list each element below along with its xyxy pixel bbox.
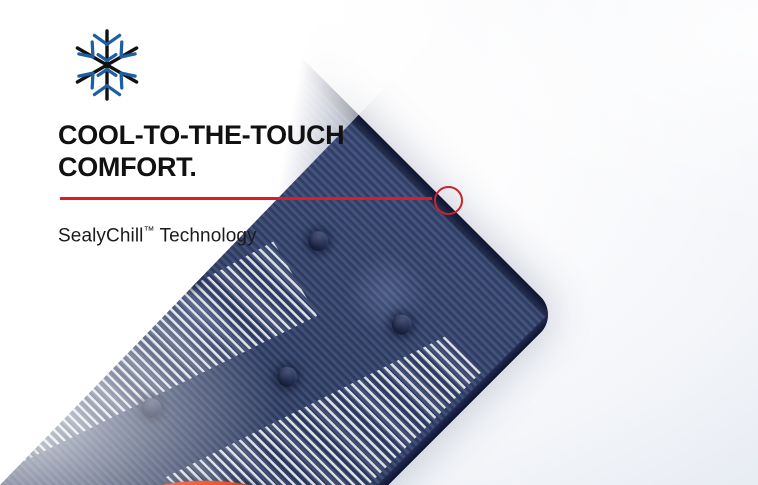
circle-marker-icon <box>434 186 463 215</box>
snowflake-icon <box>70 28 144 102</box>
page-title: COOL-TO-THE-TOUCH COMFORT. <box>58 120 438 183</box>
product-technology-label: SealyChill™ Technology <box>58 225 257 247</box>
technology-name: SealyChill <box>58 225 143 246</box>
headline-line-1: COOL-TO-THE-TOUCH <box>58 120 438 152</box>
headline-line-2: COMFORT. <box>58 152 438 184</box>
technology-suffix: Technology <box>154 225 256 246</box>
callout-rule <box>60 197 432 200</box>
promo-banner: COOL-TO-THE-TOUCH COMFORT. SealyChill™ T… <box>0 0 758 485</box>
trademark-symbol: ™ <box>143 225 154 237</box>
